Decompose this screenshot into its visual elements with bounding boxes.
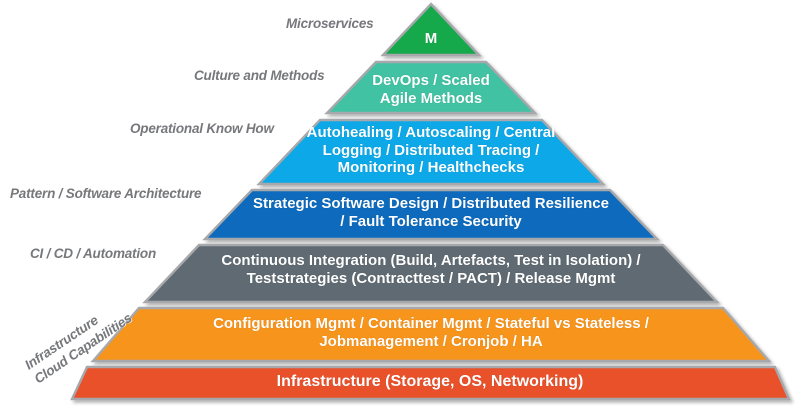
tier-label-ci-cd-automation: CI / CD / Automation [30,246,156,261]
tier-shape-pattern-software-architecture[interactable] [205,190,657,239]
tier-shape-culture-and-methods[interactable] [327,62,535,113]
pyramid-diagram: M DevOps / Scaled Agile Methods Autoheal… [0,0,797,410]
tier-label-culture-and-methods: Culture and Methods [194,68,324,83]
tier-shape-microservices[interactable] [383,4,479,55]
tier-shape-ci-cd-automation[interactable] [145,245,717,302]
tier-label-operational-know-how: Operational Know How [130,121,274,136]
tier-shape-operational-know-how[interactable] [259,120,603,184]
tier-shape-infrastructure-cloud-capabilities[interactable] [93,308,769,361]
tier-label-pattern-software-architecture: Pattern / Software Architecture [10,186,201,201]
pyramid-shapes [0,0,797,410]
tier-shape-infrastructure[interactable] [72,367,789,399]
tier-label-microservices: Microservices [286,16,373,31]
